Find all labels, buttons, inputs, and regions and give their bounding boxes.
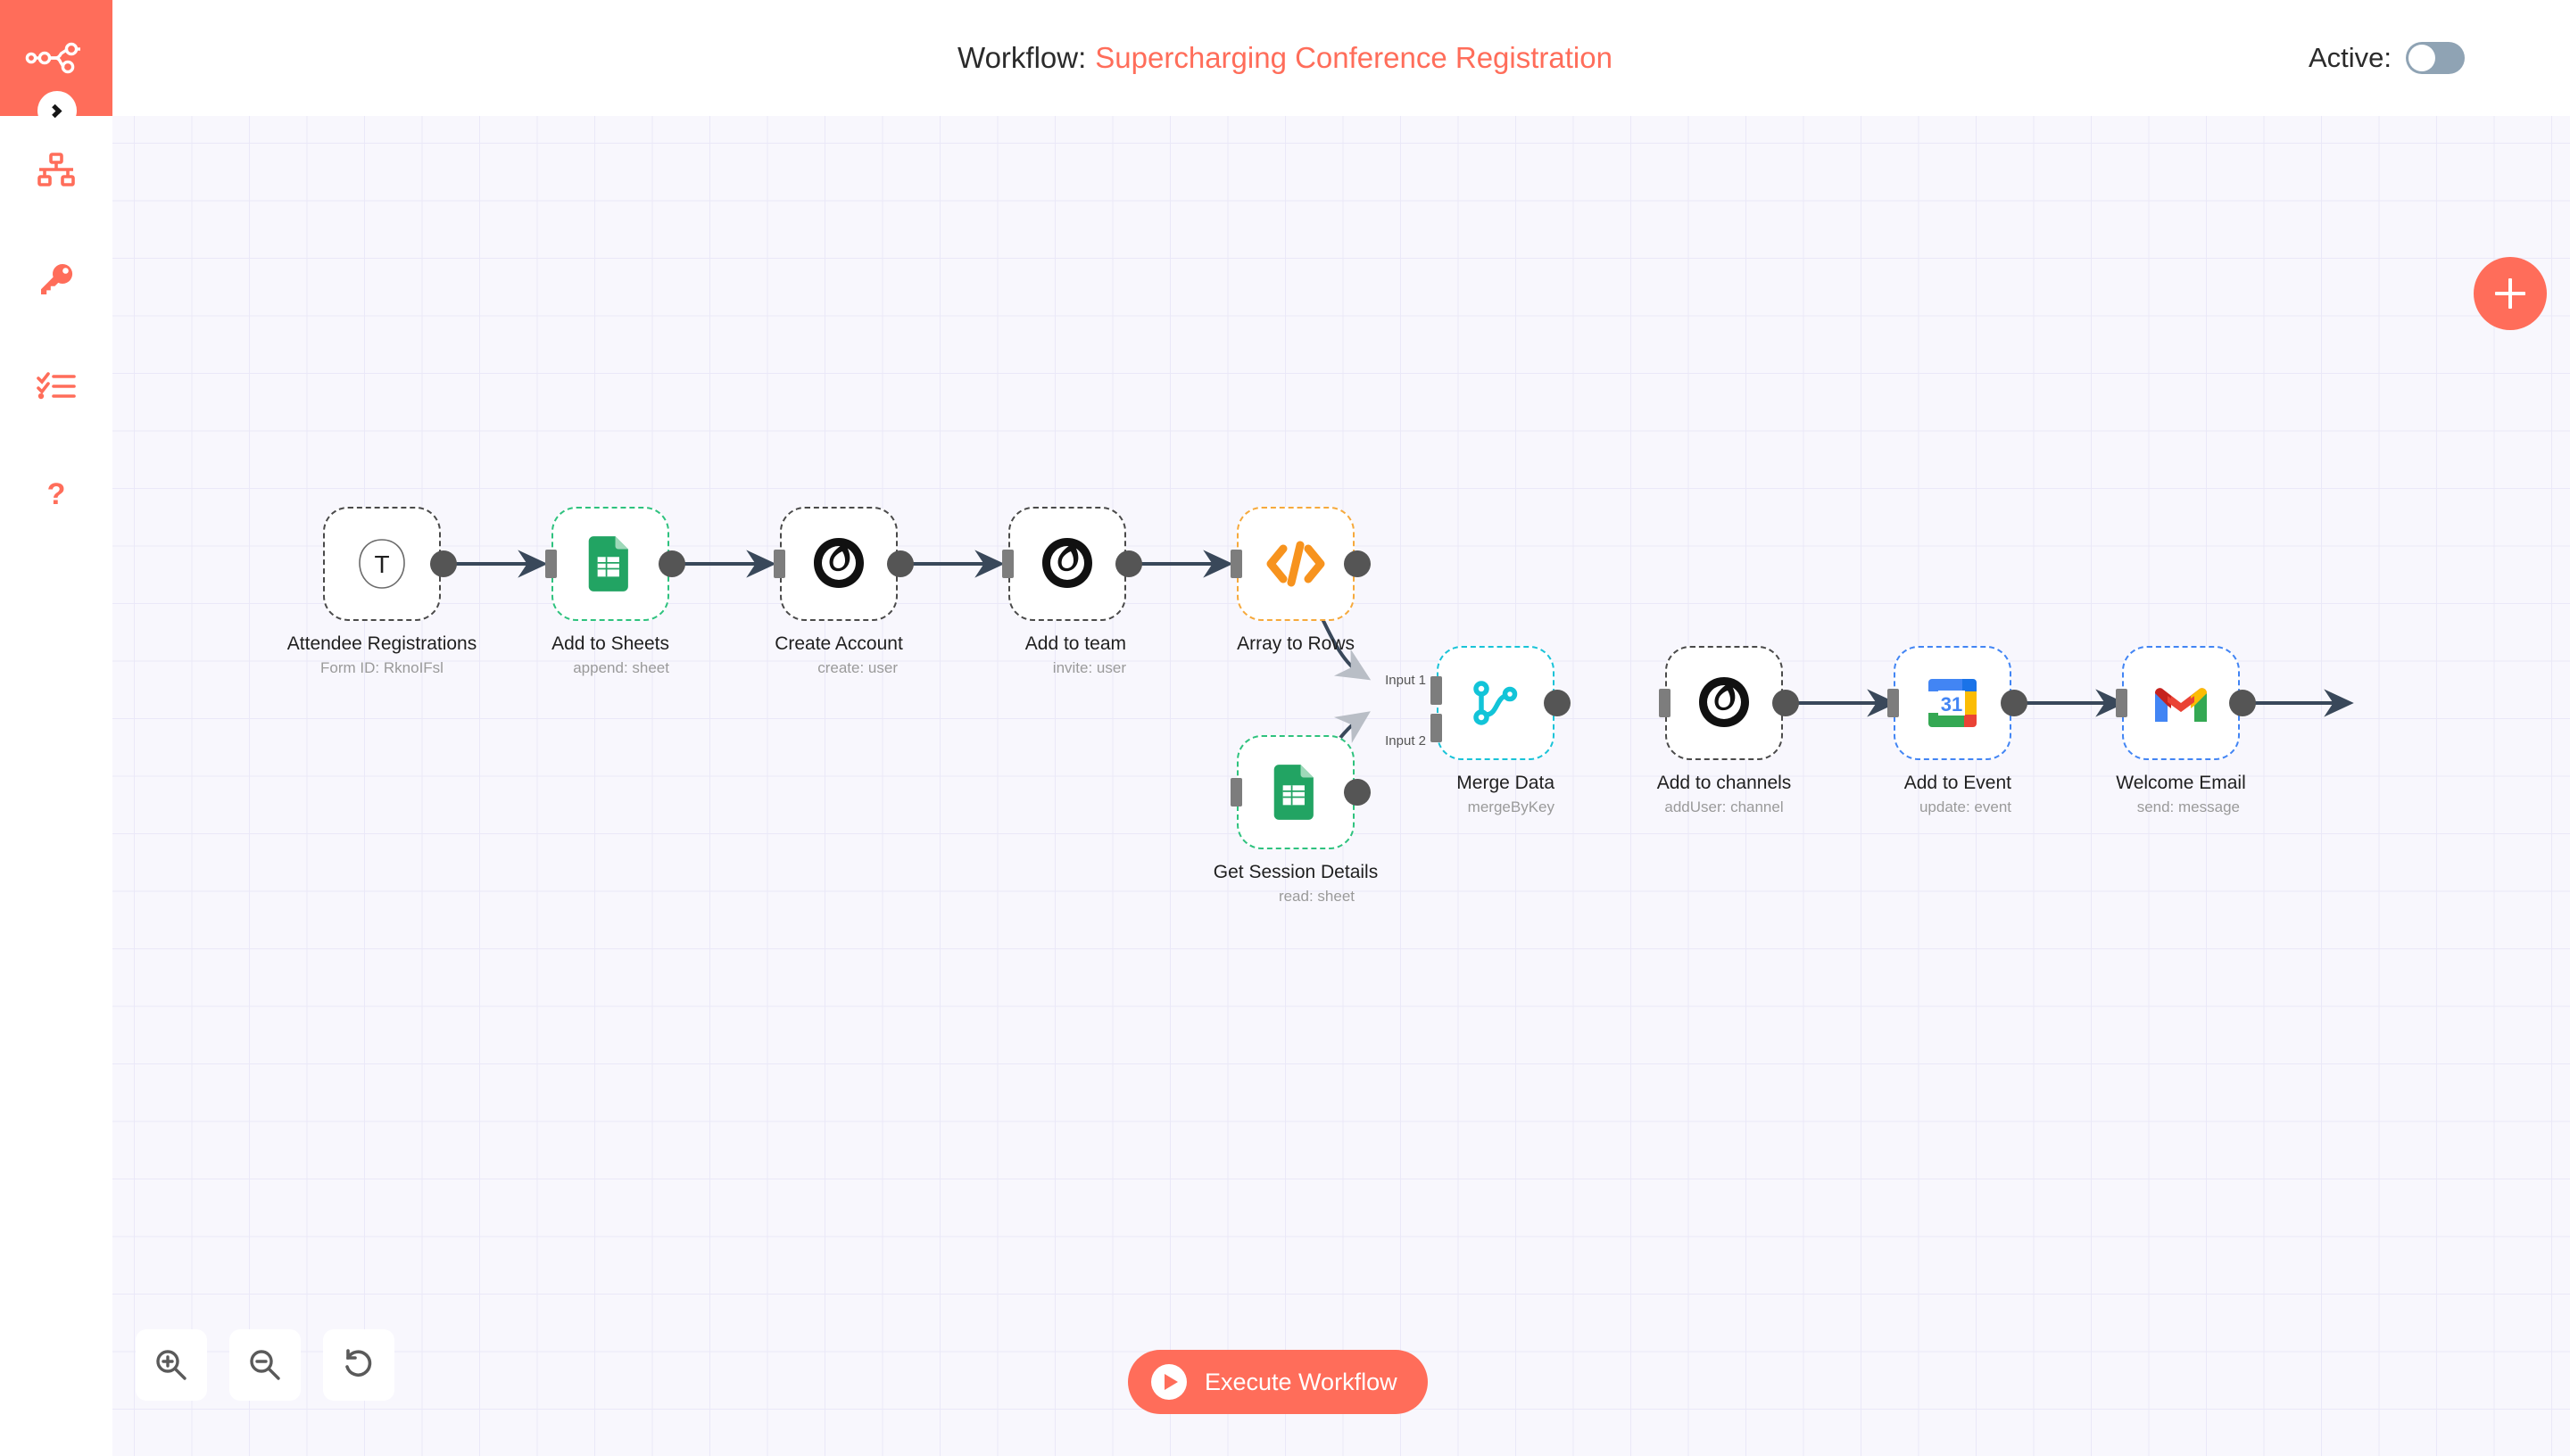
node-title: Add to Sheets [551, 633, 669, 655]
node-title: Add to channels [1657, 773, 1792, 794]
n8n-logo-icon [25, 40, 87, 76]
node-title: Add to Event [1904, 773, 2011, 794]
node-box[interactable] [1237, 507, 1355, 621]
node-title: Welcome Email [2116, 773, 2245, 794]
mattermost-icon [810, 535, 867, 592]
node-box[interactable]: 31 [1894, 646, 2011, 760]
key-icon [37, 261, 75, 298]
node-subtitle: invite: user [1053, 659, 1126, 677]
reset-zoom-button[interactable] [323, 1329, 394, 1401]
node-subtitle: update: event [1919, 798, 2011, 816]
node-box[interactable] [551, 507, 669, 621]
execute-workflow-button[interactable]: Execute Workflow [1128, 1350, 1428, 1414]
node-subtitle: mergeByKey [1468, 798, 1554, 816]
question-mark-icon: ? [43, 477, 70, 515]
top-header: Workflow: Supercharging Conference Regis… [0, 0, 2570, 116]
workflow-prefix-label: Workflow: [958, 41, 1086, 75]
active-toggle[interactable] [2406, 42, 2465, 74]
node-texts: Get Session Details read: sheet [1237, 849, 1355, 906]
output-endpoint[interactable] [887, 550, 914, 577]
google-calendar-icon: 31 [1925, 675, 1980, 731]
input-endpoint[interactable] [545, 550, 557, 578]
input-endpoint[interactable] [1002, 550, 1014, 578]
input-endpoint-2[interactable] [1430, 714, 1442, 742]
output-endpoint[interactable] [659, 550, 685, 577]
chevron-right-icon [47, 103, 62, 118]
input-endpoint[interactable] [1231, 550, 1242, 578]
google-sheets-icon [1270, 764, 1322, 821]
output-endpoint[interactable] [1344, 550, 1371, 577]
play-icon [1151, 1364, 1187, 1400]
zoom-out-icon [247, 1347, 283, 1383]
input-endpoint[interactable] [1659, 689, 1670, 717]
node-title: Add to team [1025, 633, 1126, 655]
node-title: Merge Data [1456, 773, 1554, 794]
output-endpoint[interactable] [1772, 690, 1799, 716]
node-texts: Welcome Email send: message [2122, 760, 2240, 816]
input-endpoint[interactable] [2116, 689, 2127, 717]
workflow-canvas[interactable]: T Attendee Registrations Form ID: RknoIF… [112, 116, 2570, 1456]
node-box[interactable]: T [323, 507, 441, 621]
node-attendee-registrations[interactable]: T Attendee Registrations Form ID: RknoIF… [323, 507, 441, 677]
svg-text:?: ? [47, 477, 66, 511]
typeform-icon: T [353, 535, 410, 592]
output-endpoint[interactable] [1115, 550, 1142, 577]
node-subtitle: send: message [2137, 798, 2240, 816]
sidebar-item-workflows[interactable] [0, 143, 112, 198]
google-sheets-icon [584, 535, 636, 592]
input-2-label: Input 2 [1385, 733, 1426, 749]
execute-workflow-label: Execute Workflow [1205, 1369, 1397, 1396]
node-box[interactable] [780, 507, 898, 621]
sidebar-collapse-toggle[interactable] [37, 91, 77, 130]
node-box[interactable] [1008, 507, 1126, 621]
output-endpoint[interactable] [2001, 690, 2027, 716]
node-add-to-team[interactable]: Add to team invite: user [1008, 507, 1126, 677]
node-box[interactable] [2122, 646, 2240, 760]
input-1-label: Input 1 [1385, 673, 1426, 688]
node-add-to-event[interactable]: 31 Add to Event update: event [1894, 646, 2011, 816]
n8n-workflow-editor: Workflow: Supercharging Conference Regis… [0, 0, 2570, 1456]
node-array-to-rows[interactable]: Array to Rows [1237, 507, 1355, 671]
node-texts: Merge Data mergeByKey [1437, 760, 1554, 816]
input-endpoint[interactable] [1231, 778, 1242, 807]
node-texts: Add to Sheets append: sheet [551, 621, 669, 677]
node-texts: Attendee Registrations Form ID: RknoIFsl [323, 621, 441, 677]
node-box[interactable] [1237, 735, 1355, 849]
undo-arrow-icon [341, 1347, 377, 1383]
node-title: Array to Rows [1237, 633, 1355, 655]
node-title: Get Session Details [1214, 862, 1378, 883]
mattermost-icon [1039, 535, 1096, 592]
node-box[interactable] [1665, 646, 1783, 760]
mattermost-icon [1695, 674, 1753, 732]
input-endpoint[interactable] [774, 550, 785, 578]
sitemap-icon [37, 153, 76, 188]
zoom-out-button[interactable] [229, 1329, 301, 1401]
node-texts: Array to Rows [1237, 621, 1355, 671]
node-subtitle: create: user [817, 659, 898, 677]
zoom-in-icon [153, 1347, 189, 1383]
node-welcome-email[interactable]: Welcome Email send: message [2122, 646, 2240, 816]
sidebar-item-credentials[interactable] [0, 252, 112, 307]
output-endpoint[interactable] [430, 550, 457, 577]
node-merge-data[interactable]: Input 1 Input 2 Merge Data mergeByKey [1437, 646, 1554, 816]
add-node-button[interactable] [2474, 257, 2547, 330]
merge-icon [1470, 677, 1521, 729]
node-texts: Add to Event update: event [1894, 760, 2011, 816]
page-title: Workflow: Supercharging Conference Regis… [0, 0, 2570, 116]
active-toggle-group: Active: [2309, 0, 2465, 116]
node-subtitle: append: sheet [573, 659, 669, 677]
node-subtitle: addUser: channel [1664, 798, 1783, 816]
sidebar-item-help[interactable]: ? [0, 468, 112, 524]
code-icon [1264, 538, 1327, 590]
output-endpoint[interactable] [1544, 690, 1571, 716]
node-subtitle: Form ID: RknoIFsl [320, 659, 444, 677]
zoom-controls [136, 1329, 394, 1401]
node-add-to-sheets[interactable]: Add to Sheets append: sheet [551, 507, 669, 677]
node-title: Create Account [775, 633, 903, 655]
node-texts: Create Account create: user [780, 621, 898, 677]
svg-text:T: T [374, 550, 389, 578]
node-subtitle: read: sheet [1279, 888, 1355, 906]
checklist-icon [37, 371, 76, 403]
node-texts: Add to team invite: user [1008, 621, 1126, 677]
svg-text:31: 31 [1941, 693, 1962, 716]
node-create-account[interactable]: Create Account create: user [780, 507, 898, 677]
gmail-icon [2151, 681, 2210, 725]
active-label: Active: [2309, 42, 2392, 74]
toggle-knob [2408, 45, 2435, 71]
node-add-to-channels[interactable]: Add to channels addUser: channel [1665, 646, 1783, 816]
input-endpoint-1[interactable] [1430, 676, 1442, 705]
node-texts: Add to channels addUser: channel [1665, 760, 1783, 816]
node-box[interactable]: Input 1 Input 2 [1437, 646, 1554, 760]
left-sidebar: ? [0, 0, 112, 1456]
input-endpoint[interactable] [1887, 689, 1899, 717]
output-endpoint[interactable] [2229, 690, 2256, 716]
output-endpoint[interactable] [1344, 779, 1371, 806]
zoom-in-button[interactable] [136, 1329, 207, 1401]
workflow-name[interactable]: Supercharging Conference Registration [1095, 41, 1612, 75]
sidebar-item-executions[interactable] [0, 360, 112, 415]
node-get-session-details[interactable]: Get Session Details read: sheet [1237, 735, 1355, 906]
node-title: Attendee Registrations [287, 633, 477, 655]
